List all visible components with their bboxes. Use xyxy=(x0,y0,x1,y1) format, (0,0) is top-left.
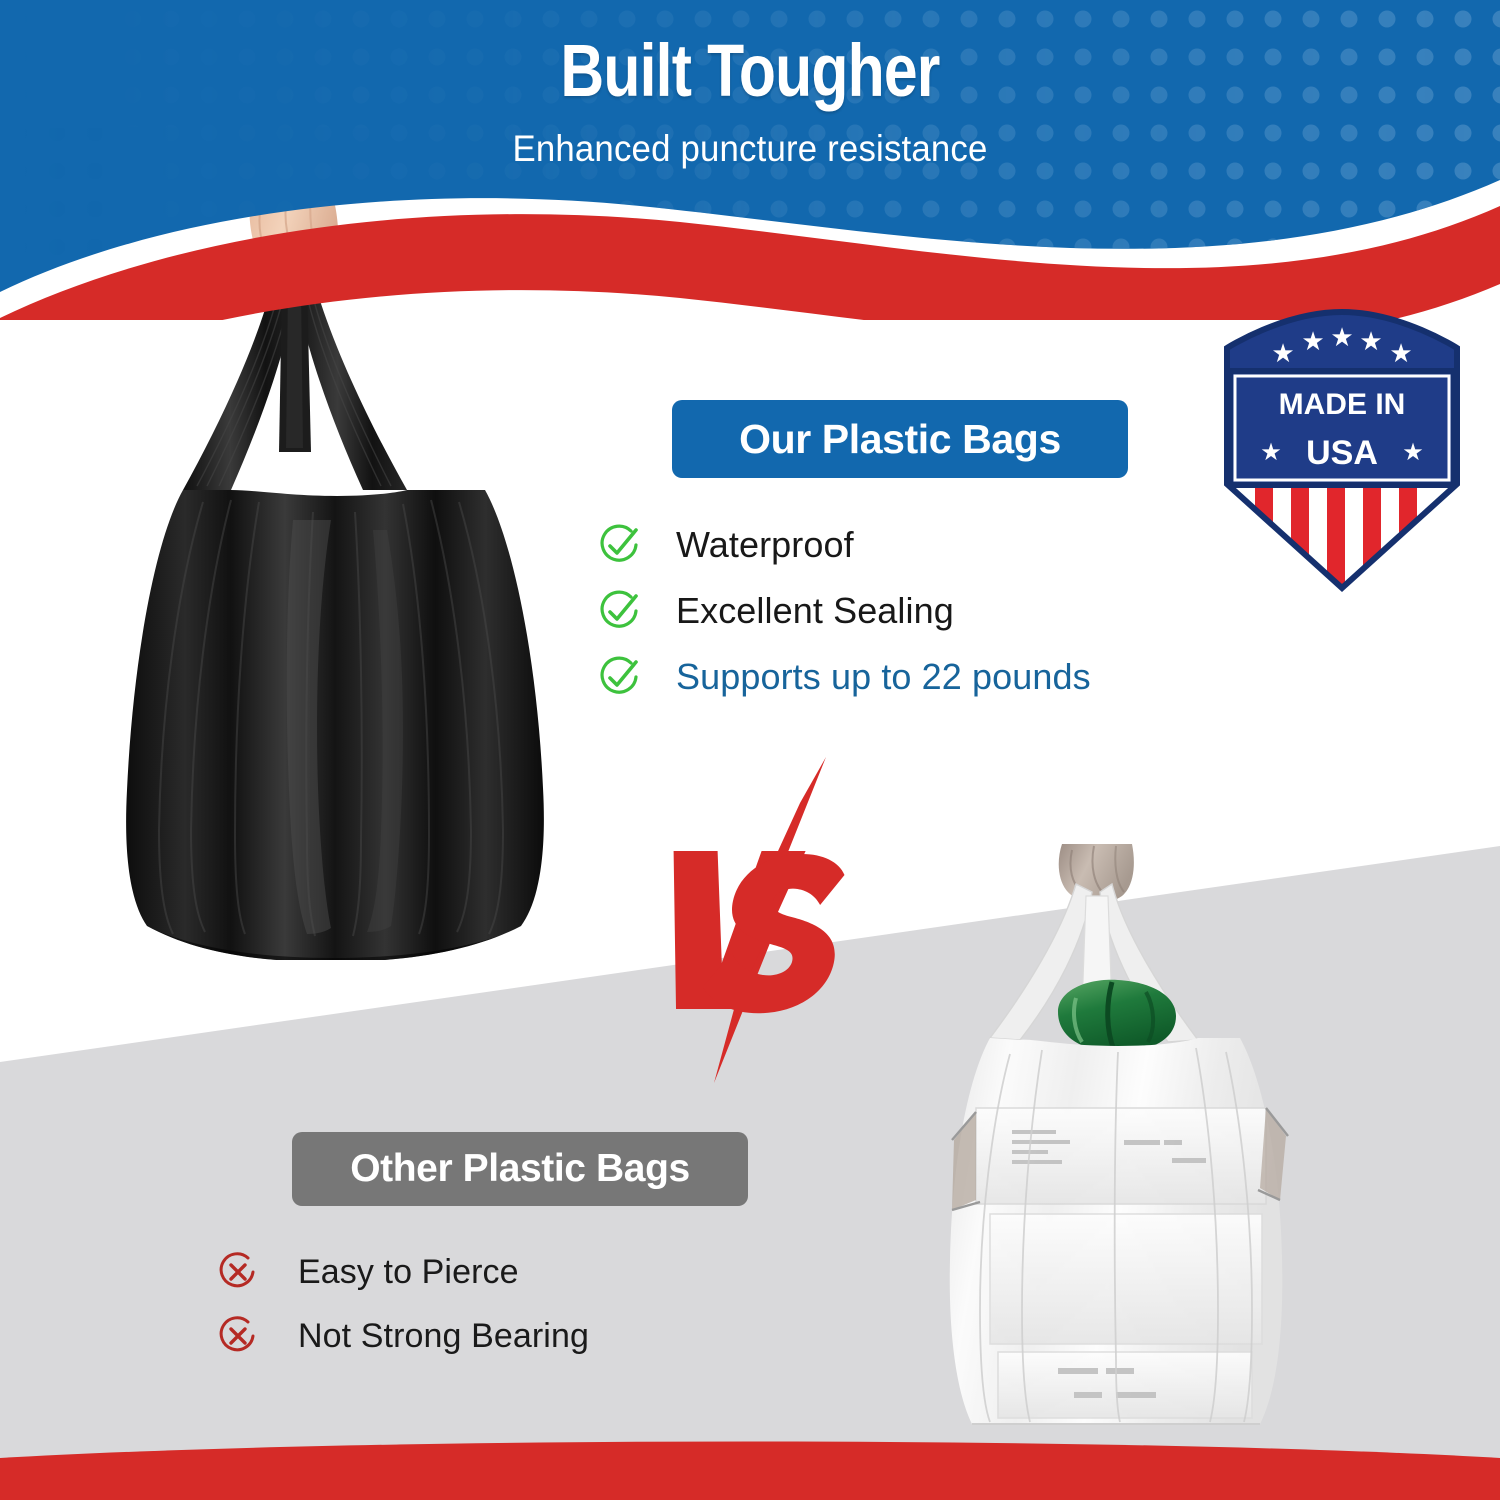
usa-star-right: ★ xyxy=(1402,438,1424,466)
list-item-label: Not Strong Bearing xyxy=(298,1317,589,1356)
svg-text:★: ★ xyxy=(1301,327,1324,357)
cross-circle-icon xyxy=(218,1252,258,1292)
product-infographic: Built Tougher Enhanced puncture resistan… xyxy=(0,0,1500,1500)
list-item: Waterproof xyxy=(596,512,1216,578)
list-item: Supports up to 22 pounds xyxy=(596,644,1216,710)
header-banner: Built Tougher Enhanced puncture resistan… xyxy=(0,0,1500,320)
svg-text:★: ★ xyxy=(1389,339,1412,369)
page-title: Built Tougher xyxy=(135,28,1365,113)
check-circle-icon xyxy=(596,588,642,634)
vs-letters xyxy=(650,851,857,1013)
hand-holding-other-bag xyxy=(1059,844,1134,903)
usa-line1: MADE IN xyxy=(1279,388,1406,421)
other-plastic-bags-badge[interactable]: Other Plastic Bags xyxy=(292,1132,748,1206)
cons-list: Easy to Pierce Not Strong Bearing xyxy=(218,1240,838,1368)
usa-star-left: ★ xyxy=(1260,438,1282,466)
cross-circle-icon xyxy=(218,1316,258,1356)
list-item: Not Strong Bearing xyxy=(218,1304,838,1368)
list-item-label: Excellent Sealing xyxy=(676,590,954,632)
check-circle-icon xyxy=(596,654,642,700)
vs-graphic xyxy=(650,755,890,1085)
usa-line2: USA xyxy=(1306,434,1378,472)
page-subtitle: Enhanced puncture resistance xyxy=(45,128,1455,170)
svg-text:★: ★ xyxy=(1359,327,1382,357)
our-plastic-bags-label: Our Plastic Bags xyxy=(739,416,1061,463)
svg-text:★: ★ xyxy=(1330,323,1353,353)
other-plastic-bags-label: Other Plastic Bags xyxy=(350,1147,690,1191)
check-circle-icon xyxy=(596,522,642,568)
list-item-label: Supports up to 22 pounds xyxy=(676,656,1091,698)
usa-stripes xyxy=(1227,482,1457,594)
pros-list: Waterproof Excellent Sealing Supports up… xyxy=(596,512,1216,710)
list-item-label: Easy to Pierce xyxy=(298,1253,519,1292)
boxes-inside xyxy=(976,1108,1266,1418)
list-item: Excellent Sealing xyxy=(596,578,1216,644)
other-bag-photo xyxy=(880,840,1350,1460)
list-item: Easy to Pierce xyxy=(218,1240,838,1304)
list-item-label: Waterproof xyxy=(676,524,854,566)
made-in-usa-badge: ★ ★ ★ ★ ★ MADE IN USA ★ ★ xyxy=(1213,306,1471,596)
svg-text:★: ★ xyxy=(1271,339,1294,369)
our-plastic-bags-badge[interactable]: Our Plastic Bags xyxy=(672,400,1128,478)
green-container xyxy=(1058,980,1176,1052)
bottom-red-bar xyxy=(0,1430,1500,1500)
